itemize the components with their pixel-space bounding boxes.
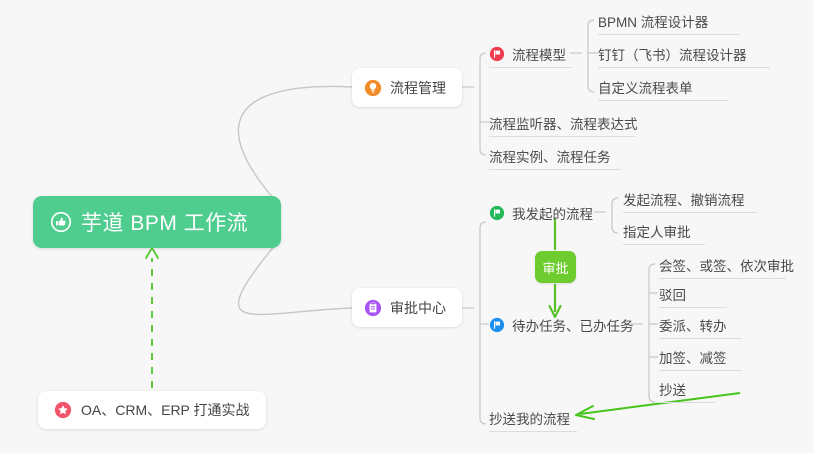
star-icon bbox=[54, 401, 72, 419]
branch-node-approval-center[interactable]: 审批中心 bbox=[352, 288, 462, 327]
subitem-reject-label: 驳回 bbox=[659, 284, 686, 304]
subitem-flow-model[interactable]: 流程模型 bbox=[489, 44, 572, 68]
root-node-label: 芋道 BPM 工作流 bbox=[81, 207, 248, 237]
subitem-countersign[interactable]: 会签、或签、依次审批 bbox=[659, 255, 786, 279]
branch-node-flow-management[interactable]: 流程管理 bbox=[352, 68, 462, 107]
thumbs-up-icon bbox=[50, 211, 72, 233]
subitem-assignee-approval-label: 指定人审批 bbox=[623, 221, 691, 241]
subitem-cc-my-flows[interactable]: 抄送我的流程 bbox=[489, 408, 577, 432]
clipboard-icon bbox=[364, 299, 382, 317]
edge-my-flows-spine-top-corner bbox=[612, 198, 618, 204]
subitem-my-initiated-flows-label: 我发起的流程 bbox=[512, 203, 593, 223]
edge-flow-model-spine-bottom-corner bbox=[588, 86, 594, 92]
subitem-bpmn-designer[interactable]: BPMN 流程设计器 bbox=[598, 11, 740, 35]
integration-practice-node[interactable]: OA、CRM、ERP 打通实战 bbox=[38, 391, 266, 429]
subitem-start-cancel-flow-label: 发起流程、撤销流程 bbox=[623, 189, 745, 209]
subitem-custom-form-label: 自定义流程表单 bbox=[598, 77, 693, 97]
subitem-add-remove-sign[interactable]: 加签、减签 bbox=[659, 347, 742, 371]
subitem-dingtalk-designer[interactable]: 钉钉（飞书）流程设计器 bbox=[598, 44, 770, 68]
subitem-instance-task[interactable]: 流程实例、流程任务 bbox=[489, 146, 621, 170]
subitem-start-cancel-flow[interactable]: 发起流程、撤销流程 bbox=[623, 189, 757, 213]
edge-approval-center-spine-bottom-corner bbox=[480, 418, 486, 424]
arrow-cc-head bbox=[576, 406, 594, 419]
arrow-dashed-head bbox=[146, 248, 158, 258]
flag-icon bbox=[489, 205, 505, 221]
edge-approval-center-spine-top-corner bbox=[480, 222, 486, 228]
subitem-custom-form[interactable]: 自定义流程表单 bbox=[598, 77, 728, 101]
subitem-instance-task-label: 流程实例、流程任务 bbox=[489, 146, 611, 166]
approval-badge-label: 审批 bbox=[542, 258, 568, 277]
subitem-todo-done-tasks[interactable]: 待办任务、已办任务 bbox=[489, 315, 629, 338]
subitem-flow-model-label: 流程模型 bbox=[512, 44, 566, 64]
subitem-delegate-transfer-label: 委派、转办 bbox=[659, 315, 727, 335]
subitem-cc-label: 抄送 bbox=[659, 379, 686, 399]
edge-tasks-spine-bottom-corner bbox=[649, 396, 655, 402]
edge-root-to-flow-mgmt bbox=[238, 86, 352, 207]
edge-tasks-spine-top-corner bbox=[649, 264, 655, 270]
subitem-todo-done-tasks-label: 待办任务、已办任务 bbox=[512, 315, 634, 335]
edge-root-to-approval-center bbox=[238, 238, 352, 315]
edge-my-flows-spine-bottom-corner bbox=[612, 227, 618, 233]
edge-flow-mgmt-spine-top-corner bbox=[480, 53, 486, 59]
flag-icon bbox=[489, 317, 505, 333]
subitem-my-initiated-flows[interactable]: 我发起的流程 bbox=[489, 203, 593, 226]
subitem-assignee-approval[interactable]: 指定人审批 bbox=[623, 221, 705, 245]
subitem-cc-my-flows-label: 抄送我的流程 bbox=[489, 408, 570, 428]
subitem-listener-expression[interactable]: 流程监听器、流程表达式 bbox=[489, 113, 635, 137]
approval-badge[interactable]: 审批 bbox=[535, 251, 576, 283]
subitem-listener-expression-label: 流程监听器、流程表达式 bbox=[489, 113, 638, 133]
subitem-bpmn-designer-label: BPMN 流程设计器 bbox=[598, 11, 708, 31]
branch-node-approval-center-label: 审批中心 bbox=[390, 298, 446, 318]
subitem-cc[interactable]: 抄送 bbox=[659, 379, 715, 403]
edge-flow-mgmt-spine-bottom-corner bbox=[480, 149, 486, 155]
subitem-reject[interactable]: 驳回 bbox=[659, 284, 727, 308]
subitem-delegate-transfer[interactable]: 委派、转办 bbox=[659, 315, 742, 339]
branch-node-flow-management-label: 流程管理 bbox=[390, 78, 446, 98]
subitem-countersign-label: 会签、或签、依次审批 bbox=[659, 255, 794, 275]
mindmap-canvas: 芋道 BPM 工作流 流程管理 流程模型 BPMN 流程设计器 钉钉（飞书）流程 bbox=[0, 0, 814, 453]
integration-practice-node-label: OA、CRM、ERP 打通实战 bbox=[81, 400, 250, 420]
edge-flow-model-spine-top-corner bbox=[588, 20, 594, 26]
flag-icon bbox=[489, 46, 505, 62]
lightbulb-icon bbox=[364, 79, 382, 97]
subitem-add-remove-sign-label: 加签、减签 bbox=[659, 347, 727, 367]
root-node[interactable]: 芋道 BPM 工作流 bbox=[33, 196, 281, 248]
subitem-dingtalk-designer-label: 钉钉（飞书）流程设计器 bbox=[598, 44, 747, 64]
